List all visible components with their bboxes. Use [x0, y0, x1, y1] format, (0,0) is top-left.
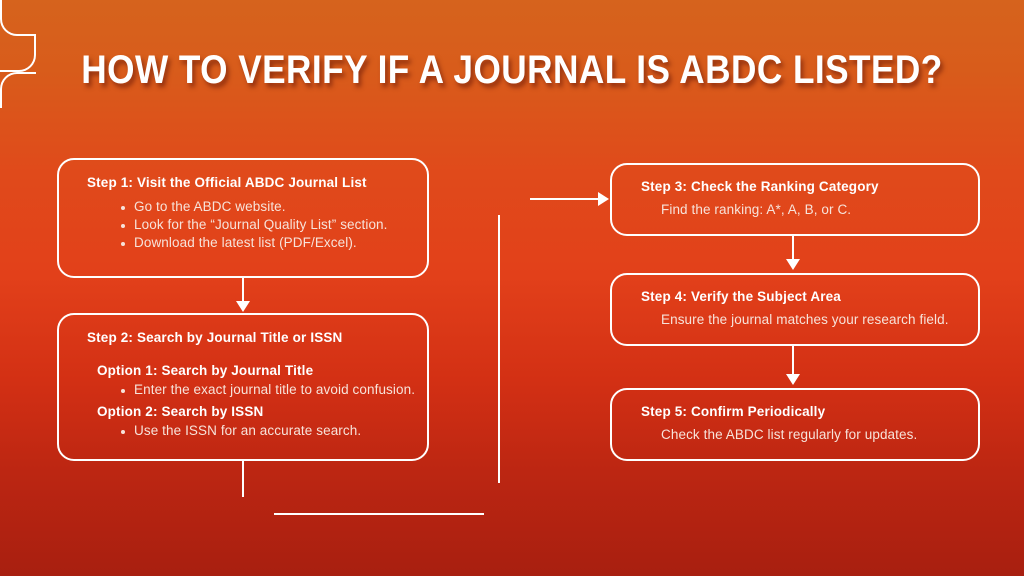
step-4-content: Step 4: Verify the Subject Area Ensure t… [612, 275, 978, 327]
connector-step2-to-step3-elbow-bottom-right [0, 36, 36, 72]
step-3-card: Step 3: Check the Ranking Category Find … [610, 163, 980, 236]
step-1-card: Step 1: Visit the Official ABDC Journal … [57, 158, 429, 278]
step-2-option-2: Option 2: Search by ISSN Use the ISSN fo… [97, 404, 427, 438]
connector-step4-to-step5-arrowhead-icon [786, 374, 800, 385]
connector-step2-to-step3-segment-up [498, 215, 500, 483]
step-3-detail: Find the ranking: A*, A, B, or C. [661, 202, 978, 217]
list-item: Use the ISSN for an accurate search. [117, 423, 427, 438]
step-3-heading: Step 3: Check the Ranking Category [641, 179, 978, 194]
step-1-content: Step 1: Visit the Official ABDC Journal … [59, 160, 427, 250]
list-item: Go to the ABDC website. [117, 199, 427, 214]
connector-step2-to-step3-segment-bottom [274, 513, 484, 515]
connector-step2-to-step3-elbow-top-left [0, 72, 36, 108]
step-2-option-1: Option 1: Search by Journal Title Enter … [97, 363, 427, 397]
step-1-bullet-list: Go to the ABDC website. Look for the “Jo… [117, 199, 427, 250]
option-1-bullet-list: Enter the exact journal title to avoid c… [117, 382, 427, 397]
step-1-heading: Step 1: Visit the Official ABDC Journal … [87, 175, 427, 190]
step-2-content: Step 2: Search by Journal Title or ISSN … [59, 315, 427, 438]
step-4-heading: Step 4: Verify the Subject Area [641, 289, 978, 304]
step-4-card: Step 4: Verify the Subject Area Ensure t… [610, 273, 980, 346]
list-item: Download the latest list (PDF/Excel). [117, 235, 427, 250]
connector-step2-to-step3-segment-top [530, 198, 601, 200]
step-2-card: Step 2: Search by Journal Title or ISSN … [57, 313, 429, 461]
connector-step2-to-step3-arrowhead-icon [598, 192, 609, 206]
connector-step2-to-step3-segment-down [242, 461, 244, 497]
list-item: Enter the exact journal title to avoid c… [117, 382, 427, 397]
option-2-heading: Option 2: Search by ISSN [97, 404, 427, 419]
step-5-content: Step 5: Confirm Periodically Check the A… [612, 390, 978, 442]
connector-step4-to-step5-line [792, 346, 794, 377]
connector-step1-to-step2-arrowhead-icon [236, 301, 250, 312]
step-5-detail: Check the ABDC list regularly for update… [661, 427, 978, 442]
list-item: Look for the “Journal Quality List” sect… [117, 217, 427, 232]
page-title: HOW TO VERIFY IF A JOURNAL IS ABDC LISTE… [61, 48, 962, 93]
step-5-heading: Step 5: Confirm Periodically [641, 404, 978, 419]
connector-step2-to-step3-elbow-bottom-left [0, 0, 36, 36]
connector-step3-to-step4-arrowhead-icon [786, 259, 800, 270]
step-3-content: Step 3: Check the Ranking Category Find … [612, 165, 978, 217]
step-4-detail: Ensure the journal matches your research… [661, 312, 978, 327]
option-1-heading: Option 1: Search by Journal Title [97, 363, 427, 378]
step-5-card: Step 5: Confirm Periodically Check the A… [610, 388, 980, 461]
step-2-heading: Step 2: Search by Journal Title or ISSN [87, 330, 427, 345]
option-2-bullet-list: Use the ISSN for an accurate search. [117, 423, 427, 438]
